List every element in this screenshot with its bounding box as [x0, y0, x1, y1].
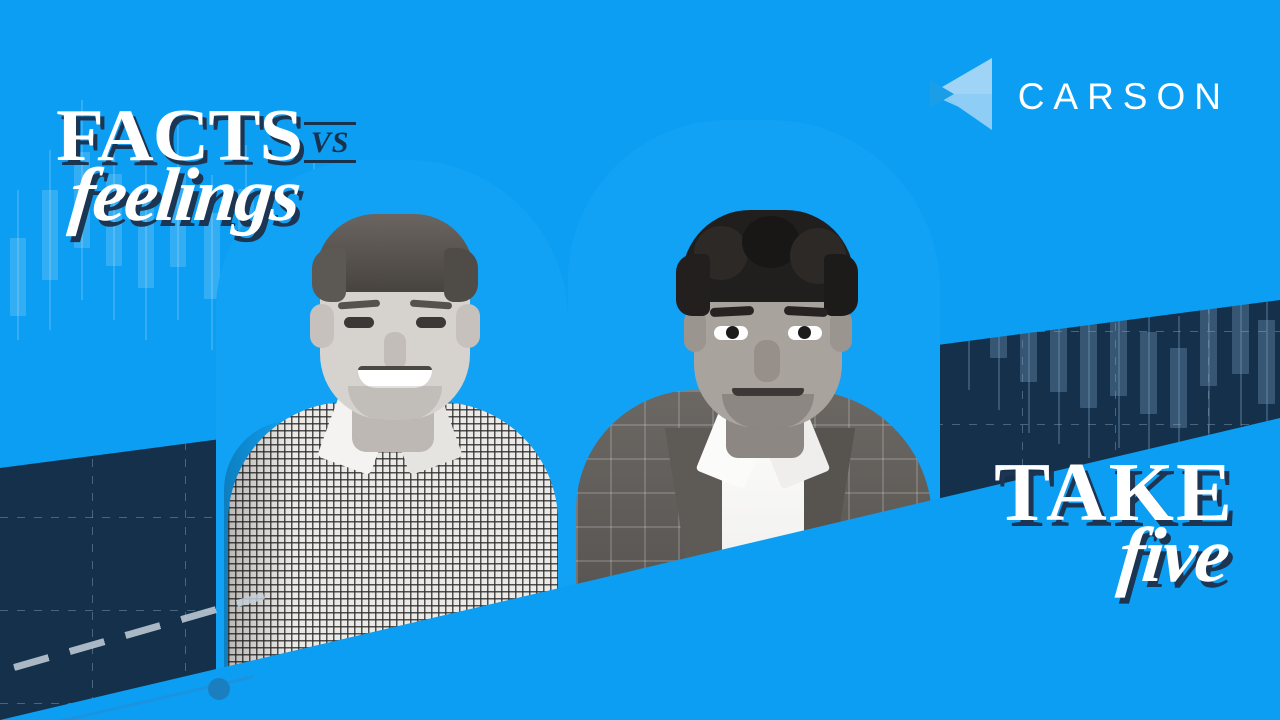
carson-logo: CARSON [930, 58, 1230, 135]
episode-cover-art: FACTS VS feelings TAKE five CARSON [0, 0, 1280, 720]
show-title-feelings: feelings [66, 161, 419, 229]
segment-title-lockup: TAKE five [994, 458, 1234, 590]
carson-chevron-mark-icon [930, 58, 992, 135]
trend-endpoint-dot [208, 678, 230, 700]
segment-title-five: five [990, 519, 1231, 591]
vs-label: VS [304, 125, 356, 160]
vs-badge: VS [304, 122, 356, 163]
carson-wordmark: CARSON [1018, 76, 1230, 118]
show-title-lockup: FACTS VS feelings [56, 106, 416, 229]
